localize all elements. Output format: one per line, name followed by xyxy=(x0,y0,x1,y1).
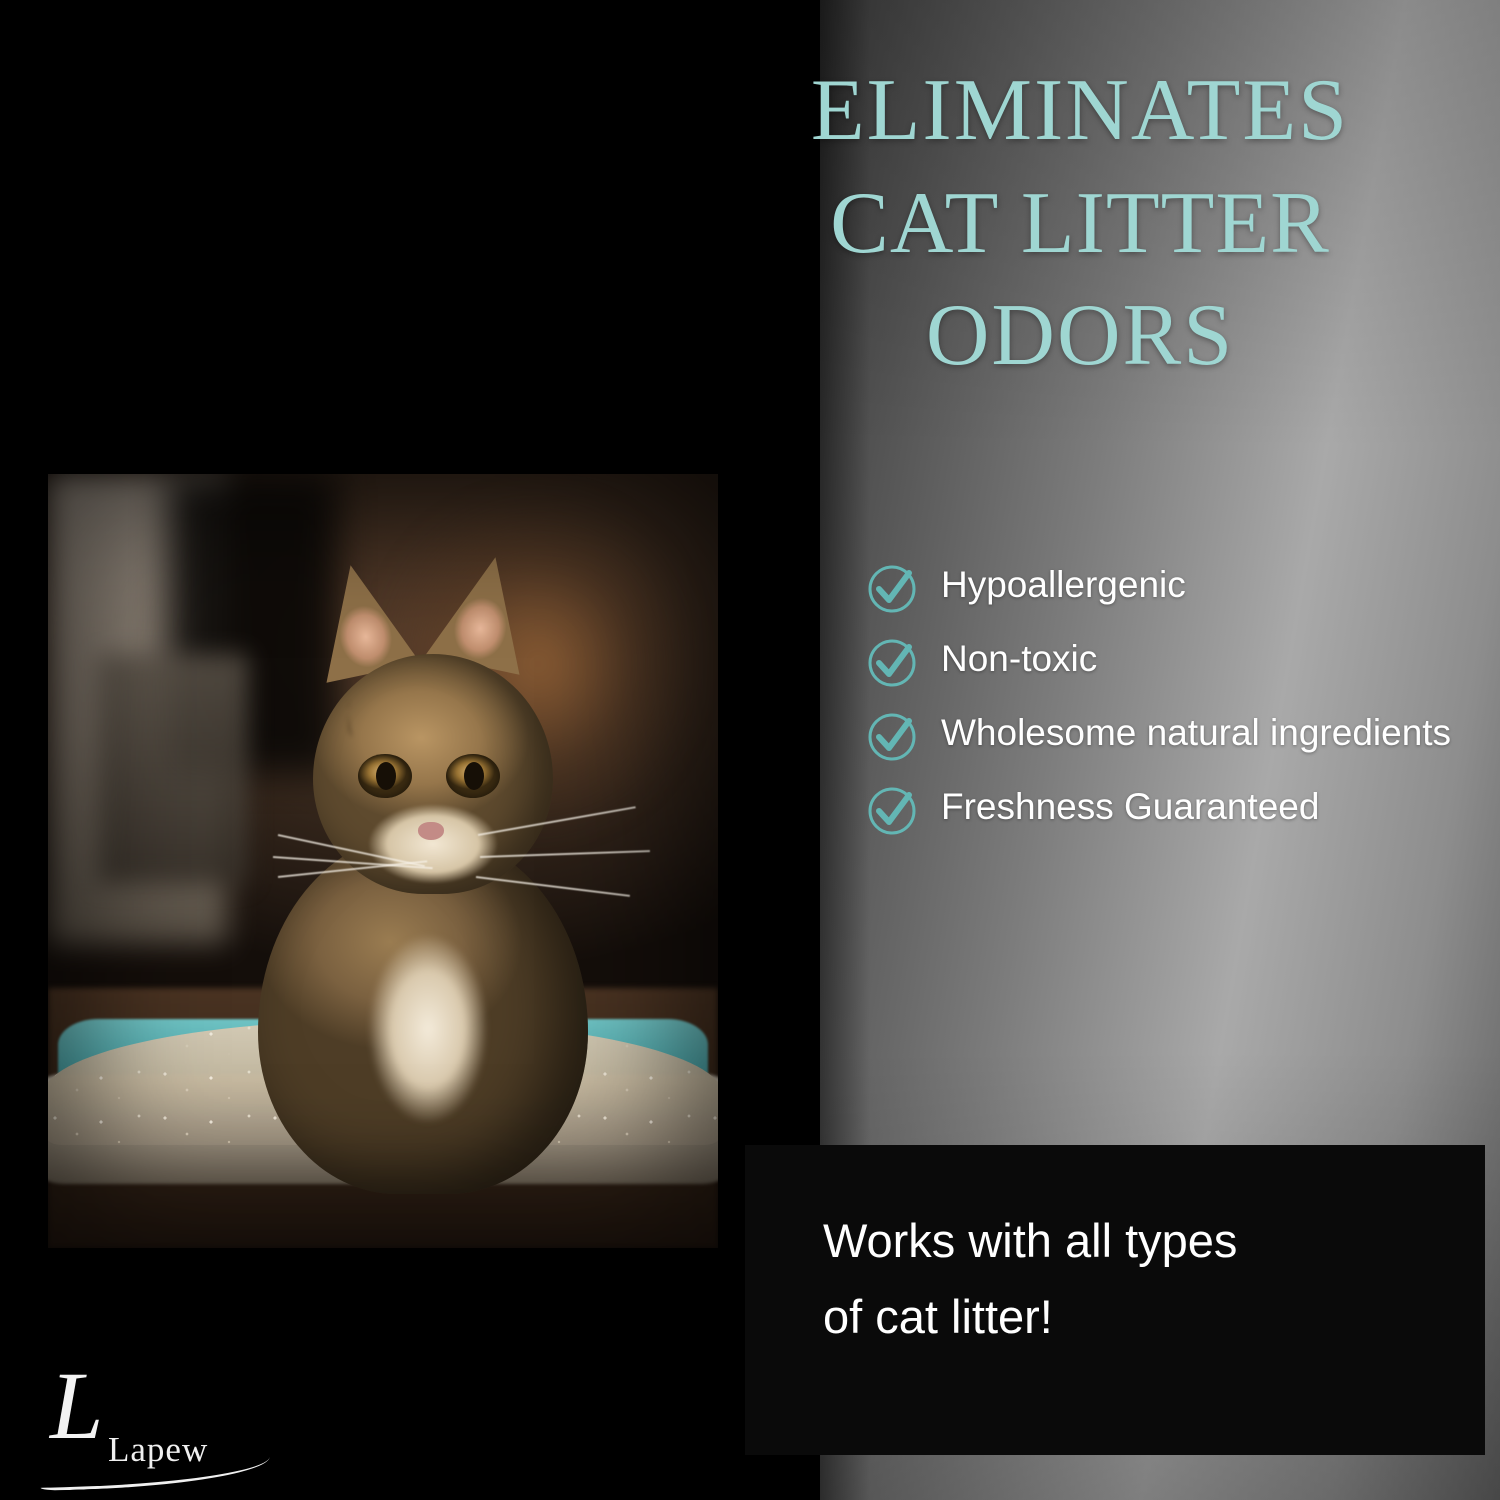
brand-logo: L Lapew xyxy=(40,1358,340,1478)
check-circle-icon xyxy=(865,784,919,838)
feature-item: Hypoallergenic xyxy=(865,560,1475,616)
feature-item: Non-toxic xyxy=(865,634,1475,690)
kitten-nose xyxy=(418,822,444,840)
bottom-banner: Works with all types of cat litter! xyxy=(745,1145,1485,1455)
feature-label: Wholesome natural ingredients xyxy=(941,708,1451,758)
logo-mark: L xyxy=(50,1358,103,1454)
feature-item: Wholesome natural ingredients xyxy=(865,708,1475,764)
kitten-muzzle xyxy=(368,804,498,884)
check-circle-icon xyxy=(865,710,919,764)
banner-line-1: Works with all types xyxy=(823,1203,1423,1279)
kitten-photo xyxy=(48,474,718,1248)
kitten-forehead-stripes xyxy=(348,664,518,754)
product-poster: ELIMINATES CAT LITTER ODORS xyxy=(0,0,1500,1500)
headline: ELIMINATES CAT LITTER ODORS xyxy=(690,55,1470,393)
feature-label: Hypoallergenic xyxy=(941,560,1186,610)
headline-line-1: ELIMINATES xyxy=(690,55,1470,168)
logo-name: Lapew xyxy=(108,1430,208,1470)
kitten-chest-fur xyxy=(368,934,488,1124)
feature-label: Freshness Guaranteed xyxy=(941,782,1319,832)
headline-line-2: CAT LITTER xyxy=(690,168,1470,281)
feature-label: Non-toxic xyxy=(941,634,1097,684)
banner-text: Works with all types of cat litter! xyxy=(823,1203,1423,1355)
feature-item: Freshness Guaranteed xyxy=(865,782,1475,838)
kitten-eye-left xyxy=(358,754,412,798)
check-circle-icon xyxy=(865,636,919,690)
kitten-figure xyxy=(218,504,638,1204)
check-circle-icon xyxy=(865,562,919,616)
kitten-eye-right xyxy=(446,754,500,798)
banner-line-2: of cat litter! xyxy=(823,1279,1423,1355)
headline-line-3: ODORS xyxy=(690,280,1470,393)
feature-list: Hypoallergenic Non-toxic Wholesome natur… xyxy=(865,560,1475,856)
